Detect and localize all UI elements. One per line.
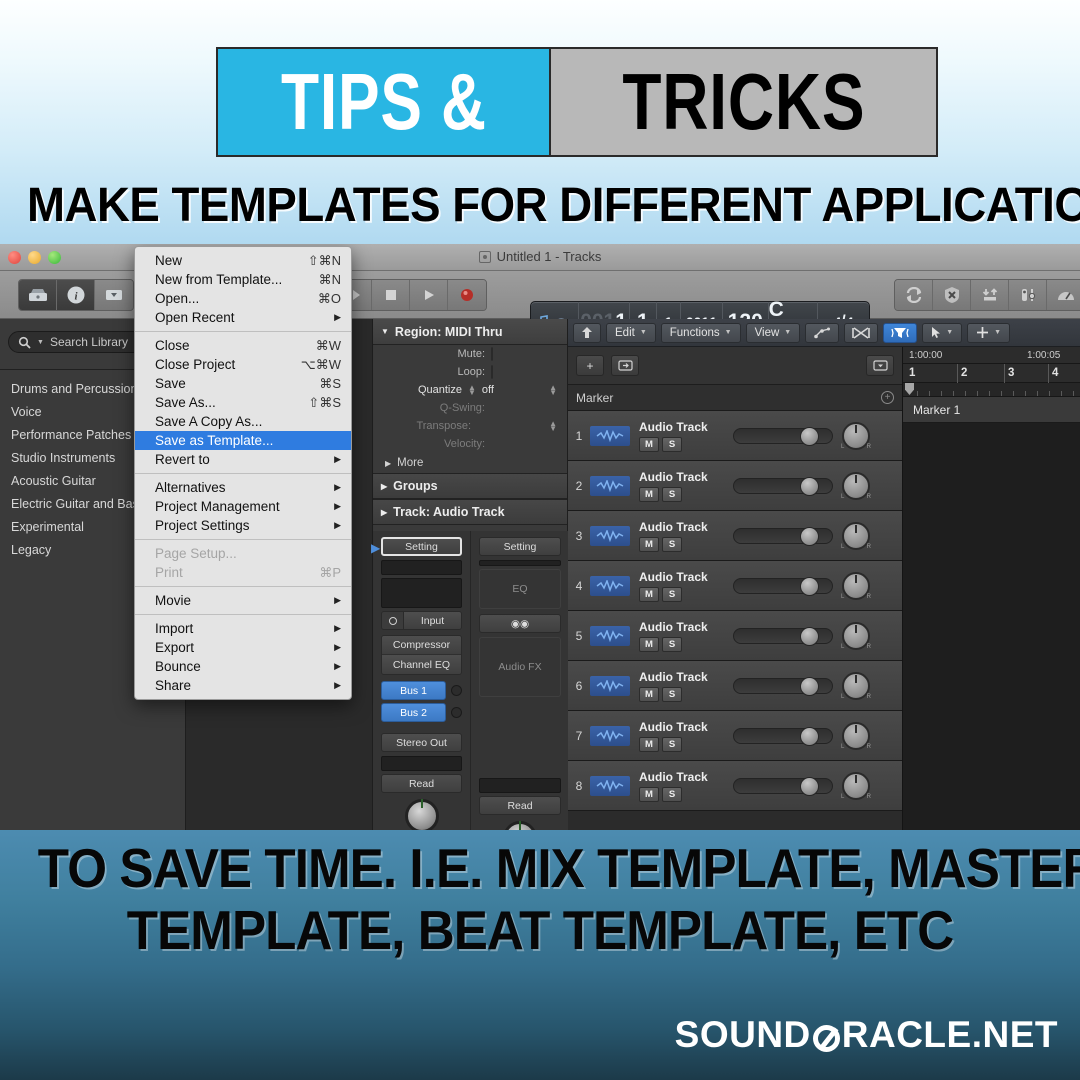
menu-item-label: New — [155, 253, 182, 268]
volume-slider[interactable] — [733, 678, 833, 694]
menu-separator — [135, 473, 351, 474]
table-row[interactable]: 5 Audio Track MS LR — [568, 611, 902, 661]
menu-item-alternatives[interactable]: Alternatives▶ — [135, 478, 351, 497]
strip-send-bus2-row[interactable]: Bus 2 — [381, 703, 462, 722]
loop-label: Loop: — [389, 366, 485, 378]
send-level-knob[interactable] — [451, 685, 462, 696]
strip-pan-knob[interactable] — [503, 821, 537, 830]
table-row[interactable]: 6 Audio Track MS LR — [568, 661, 902, 711]
menu-item-new-from-template[interactable]: New from Template...⌘N — [135, 270, 351, 289]
pan-knob[interactable]: LR — [842, 572, 870, 600]
menu-item-print: Print⌘P — [135, 563, 351, 582]
volume-slider[interactable] — [733, 478, 833, 494]
menu-item-shortcut: ⌥⌘W — [301, 357, 341, 373]
cpu-meter-icon[interactable] — [1047, 280, 1080, 310]
snap-icon[interactable] — [883, 323, 917, 343]
menu-item-shortcut: ⌘N — [319, 272, 341, 288]
menu-item-label: Import — [155, 621, 193, 636]
record-button[interactable] — [448, 280, 486, 310]
track-list: 1 Audio Track MS LR 2 Audio Track MS LR … — [568, 411, 902, 830]
strip-input-slot[interactable]: Input — [381, 611, 462, 630]
volume-slider-thumb[interactable] — [800, 527, 819, 546]
marker-track-label: Marker — [576, 391, 613, 405]
library-icon[interactable] — [19, 280, 57, 310]
strip-output-button[interactable]: Stereo Out — [381, 733, 462, 752]
library-item-label: Studio Instruments — [11, 451, 115, 465]
track-name: Audio Track — [639, 620, 708, 634]
strip-fx-compressor[interactable]: Compressor — [382, 636, 461, 655]
track-name: Audio Track — [639, 570, 708, 584]
tips-and-tricks-banner: TIPS & TRICKS — [216, 47, 938, 157]
menu-item-label: Export — [155, 640, 194, 655]
submenu-arrow-icon: ▶ — [334, 623, 341, 634]
volume-slider-thumb[interactable] — [800, 727, 819, 746]
table-row[interactable]: 4 Audio Track MS LR — [568, 561, 902, 611]
track-number: 4 — [568, 579, 590, 593]
bar-number: 1 — [909, 367, 915, 379]
channel-strips: ▶ Setting Input Compressor Channel EQ Bu… — [373, 531, 569, 830]
menu-item-project-settings[interactable]: Project Settings▶ — [135, 516, 351, 535]
pointer-tool-button[interactable]: ▼ — [922, 323, 962, 343]
count-in-icon[interactable] — [971, 280, 1009, 310]
library-item-label: Legacy — [11, 543, 51, 557]
tick-ruler — [903, 383, 1080, 397]
disclosure-down-icon: ▼ — [381, 327, 389, 336]
banner-tips-label: TIPS & — [281, 56, 487, 148]
menu-item-shortcut: ⌘W — [316, 338, 341, 354]
menu-item-save[interactable]: Save⌘S — [135, 374, 351, 393]
qswing-label: Q-Swing: — [389, 402, 485, 414]
timecode-ruler[interactable]: 1:00:00 1:00:05 — [903, 347, 1080, 364]
pan-knob[interactable]: LR — [842, 422, 870, 450]
caption-line-2: TEMPLATE, BEAT TEMPLATE, ETC — [38, 900, 1042, 962]
duplicate-track-button[interactable] — [611, 355, 639, 376]
velocity-label: Velocity: — [389, 438, 485, 450]
library-item-label: Drums and Percussion — [11, 382, 137, 396]
menu-item-label: Page Setup... — [155, 546, 237, 561]
table-row[interactable]: 3 Audio Track MS LR — [568, 511, 902, 561]
solo-button[interactable]: S — [662, 737, 682, 752]
transpose-stepper-icon[interactable]: ▲▼ — [549, 421, 557, 431]
track-number: 3 — [568, 529, 590, 543]
mute-button[interactable]: M — [639, 437, 659, 452]
strip-group-slot[interactable] — [381, 756, 462, 771]
logo-text-part1: SOUND — [675, 1014, 811, 1056]
menu-item-export[interactable]: Export▶ — [135, 638, 351, 657]
inspector-groups-label: Groups — [393, 479, 437, 493]
inspector-track-header[interactable]: ▶ Track: Audio Track — [373, 499, 567, 525]
window-title-label: Untitled 1 - Tracks — [497, 249, 602, 264]
menu-label: Edit — [615, 327, 635, 339]
menu-item-label: Open Recent — [155, 310, 235, 325]
bar-number: 2 — [961, 367, 967, 379]
library-item-label: Performance Patches — [11, 428, 131, 442]
waveform-icon — [590, 526, 630, 546]
import-arrow-icon[interactable] — [573, 323, 601, 343]
submenu-arrow-icon: ▶ — [334, 312, 341, 323]
track-name: Audio Track — [639, 720, 708, 734]
submenu-arrow-icon: ▶ — [334, 680, 341, 691]
inspector-more-toggle[interactable]: ▶ More — [373, 453, 567, 473]
menu-item-label: Project Settings — [155, 518, 250, 533]
volume-slider[interactable] — [733, 428, 833, 444]
volume-slider-thumb[interactable] — [800, 627, 819, 646]
strip-pan-knob[interactable] — [405, 799, 439, 830]
tracks-menu-view[interactable]: View▼ — [746, 323, 801, 343]
strip-group-slot[interactable] — [479, 778, 561, 793]
input-power-icon[interactable] — [382, 612, 404, 629]
tracks-menubar: Edit▼ Functions▼ View▼ ▼ ▼ — [568, 319, 1080, 347]
search-icon — [18, 336, 31, 349]
track-number: 5 — [568, 629, 590, 643]
pan-knob[interactable]: LR — [842, 472, 870, 500]
menu-item-label: Save as Template... — [155, 433, 273, 448]
strip-send-bus1[interactable]: Bus 1 — [381, 681, 446, 700]
menu-item-open-recent[interactable]: Open Recent▶ — [135, 308, 351, 327]
menu-item-save-as[interactable]: Save As...⇧⌘S — [135, 393, 351, 412]
strip-send-bus1-row[interactable]: Bus 1 — [381, 681, 462, 700]
smart-controls-icon[interactable] — [95, 280, 133, 310]
menu-item-label: Share — [155, 678, 191, 693]
pan-knob[interactable]: LR — [842, 672, 870, 700]
volume-slider[interactable] — [733, 628, 833, 644]
strip-eq-thumbnail[interactable] — [381, 560, 462, 575]
chevron-down-icon: ▼ — [946, 329, 953, 336]
table-row[interactable]: 8 Audio Track MS LR — [568, 761, 902, 811]
volume-slider-thumb[interactable] — [800, 677, 819, 696]
track-name: Audio Track — [639, 670, 708, 684]
menu-item-shortcut: ⌘O — [318, 291, 341, 307]
mute-button[interactable]: M — [639, 637, 659, 652]
submenu-arrow-icon: ▶ — [334, 520, 341, 531]
menu-item-shortcut: ⇧⌘S — [308, 395, 341, 411]
selection-arrow-icon: ▶ — [371, 541, 380, 555]
track-number: 8 — [568, 779, 590, 793]
add-track-button[interactable]: + — [576, 355, 604, 376]
menu-item-label: Project Management — [155, 499, 280, 514]
submenu-arrow-icon: ▶ — [334, 661, 341, 672]
strip-stereo-link-button[interactable]: ◉◉ — [479, 614, 561, 633]
quantize-label: Quantize — [373, 384, 462, 396]
menu-item-label: Close Project — [155, 357, 235, 372]
submenu-arrow-icon: ▶ — [334, 454, 341, 465]
arrange-canvas[interactable] — [903, 423, 1080, 830]
strip-fx-channel-eq[interactable]: Channel EQ — [382, 655, 461, 674]
menu-label: View — [755, 327, 780, 339]
menu-item-shortcut: ⇧⌘N — [308, 253, 341, 269]
solo-button[interactable]: S — [662, 787, 682, 802]
menu-item-shortcut: ⌘S — [319, 376, 341, 392]
pan-knob[interactable]: LR — [842, 772, 870, 800]
strip-send-bus2[interactable]: Bus 2 — [381, 703, 446, 722]
menu-item-bounce[interactable]: Bounce▶ — [135, 657, 351, 676]
track-name: Audio Track — [639, 420, 708, 434]
mute-button[interactable]: M — [639, 587, 659, 602]
menu-item-page-setup: Page Setup... — [135, 544, 351, 563]
menu-item-label: Save As... — [155, 395, 216, 410]
menu-item-save-a-copy-as[interactable]: Save A Copy As... — [135, 412, 351, 431]
mute-button[interactable]: M — [639, 687, 659, 702]
quantize-value: off — [482, 384, 543, 396]
transport-group — [333, 279, 487, 311]
banner-tricks-label: TRICKS — [622, 56, 865, 148]
bar-number: 3 — [1008, 367, 1014, 379]
menu-item-save-as-template[interactable]: Save as Template... — [135, 431, 351, 450]
menu-item-label: Movie — [155, 593, 191, 608]
send-level-knob[interactable] — [451, 707, 462, 718]
volume-slider-thumb[interactable] — [800, 427, 819, 446]
menu-item-import[interactable]: Import▶ — [135, 619, 351, 638]
chevron-down-icon: ▼ — [994, 329, 1001, 336]
region-inspector-title: Region: MIDI Thru — [395, 325, 503, 339]
bar-number: 4 — [1052, 367, 1058, 379]
menu-separator — [135, 614, 351, 615]
soundoracle-logo[interactable]: SOUNDRACLE.NET — [675, 1014, 1058, 1056]
quantize-value-stepper-icon[interactable]: ▲▼ — [549, 385, 557, 395]
project-disc-icon — [479, 251, 491, 263]
tracks-menu-functions[interactable]: Functions▼ — [661, 323, 741, 343]
strip-eq-box[interactable]: EQ — [479, 569, 561, 609]
stop-button[interactable] — [372, 280, 410, 310]
flex-icon[interactable] — [844, 323, 878, 343]
track-number: 1 — [568, 429, 590, 443]
chevron-down-icon: ▼ — [640, 329, 647, 336]
waveform-icon — [590, 476, 630, 496]
bottom-caption: TO SAVE TIME. I.E. MIX TEMPLATE, MASTERI… — [0, 838, 1080, 961]
chevron-down-icon: ▼ — [725, 329, 732, 336]
metronome-off-icon[interactable] — [933, 280, 971, 310]
inspector-row-loop[interactable]: Loop: — [373, 363, 567, 381]
waveform-icon — [590, 576, 630, 596]
submenu-arrow-icon: ▶ — [334, 501, 341, 512]
tracks-area: Edit▼ Functions▼ View▼ ▼ ▼ + — [568, 319, 1080, 830]
crosshair-tool-button[interactable]: ▼ — [967, 323, 1010, 343]
tuner-icon[interactable] — [1009, 280, 1047, 310]
waveform-icon — [590, 726, 630, 746]
global-marker-track[interactable]: Marker + — [568, 385, 902, 411]
mute-checkbox[interactable] — [491, 347, 493, 361]
menu-separator — [135, 539, 351, 540]
tracks-menu-edit[interactable]: Edit▼ — [606, 323, 656, 343]
volume-slider-thumb[interactable] — [800, 777, 819, 796]
logo-text-part2: RACLE.NET — [842, 1014, 1058, 1056]
bar-ruler[interactable]: 1 2 3 4 — [903, 364, 1080, 383]
chevron-right-icon: ▶ — [381, 482, 387, 491]
menu-item-label: Revert to — [155, 452, 210, 467]
toolbar-left-group: i — [18, 279, 134, 311]
timecode-start: 1:00:00 — [909, 350, 942, 361]
strip-setting-button[interactable]: Setting — [479, 537, 561, 556]
mute-label: Mute: — [389, 348, 485, 360]
volume-slider[interactable] — [733, 578, 833, 594]
region-inspector-header[interactable]: ▼ Region: MIDI Thru — [373, 319, 567, 345]
volume-slider[interactable] — [733, 728, 833, 744]
menu-separator — [135, 331, 351, 332]
waveform-icon — [590, 776, 630, 796]
library-item-label: Voice — [11, 405, 42, 419]
pan-knob[interactable]: LR — [842, 522, 870, 550]
submenu-arrow-icon: ▶ — [334, 595, 341, 606]
strip-audio-fx-box[interactable]: Audio FX — [479, 637, 561, 697]
add-marker-icon[interactable]: + — [881, 391, 894, 404]
chevron-down-icon: ▼ — [784, 329, 791, 336]
file-menu-dropdown[interactable]: New⇧⌘N New from Template...⌘N Open...⌘O … — [134, 246, 352, 700]
library-item-label: Electric Guitar and Bass — [11, 497, 145, 511]
submenu-arrow-icon: ▶ — [334, 642, 341, 653]
table-row[interactable]: 7 Audio Track MS LR — [568, 711, 902, 761]
solo-button[interactable]: S — [662, 587, 682, 602]
menu-item-movie[interactable]: Movie▶ — [135, 591, 351, 610]
menu-item-label: Open... — [155, 291, 199, 306]
strip-automation-mode[interactable]: Read — [381, 774, 462, 793]
library-item-label: Experimental — [11, 520, 84, 534]
playhead-icon[interactable] — [905, 383, 914, 395]
inspector-row-velocity[interactable]: Velocity: — [373, 435, 567, 453]
menu-item-share[interactable]: Share▶ — [135, 676, 351, 695]
pan-knob[interactable]: LR — [842, 622, 870, 650]
menu-item-project-management[interactable]: Project Management▶ — [135, 497, 351, 516]
menu-item-label: Save — [155, 376, 186, 391]
quantize-stepper-icon[interactable]: ▲▼ — [468, 385, 476, 395]
solo-button[interactable]: S — [662, 537, 682, 552]
inspector-row-transpose[interactable]: Transpose: ▲▼ — [373, 417, 567, 435]
marker-1-row[interactable]: Marker 1 — [903, 397, 1080, 423]
chevron-right-icon: ▶ — [381, 508, 387, 517]
marker-1-label: Marker 1 — [913, 403, 960, 417]
menu-item-label: Save A Copy As... — [155, 414, 262, 429]
menu-item-revert-to[interactable]: Revert to▶ — [135, 450, 351, 469]
channel-strip-output[interactable]: Setting EQ ◉◉ Audio FX Read — [471, 531, 569, 830]
solo-button[interactable]: S — [662, 687, 682, 702]
chevron-right-icon: ▶ — [385, 459, 391, 468]
track-number: 2 — [568, 479, 590, 493]
channel-strip-selected[interactable]: ▶ Setting Input Compressor Channel EQ Bu… — [373, 531, 471, 830]
logo-o-icon — [813, 1025, 840, 1052]
volume-slider-thumb[interactable] — [800, 477, 819, 496]
cycle-icon[interactable] — [895, 280, 933, 310]
banner-tips-box: TIPS & — [218, 49, 551, 155]
strip-setting-button[interactable]: Setting — [381, 537, 462, 556]
mute-button[interactable]: M — [639, 487, 659, 502]
solo-button[interactable]: S — [662, 487, 682, 502]
banner-tricks-box: TRICKS — [551, 49, 936, 155]
mute-button[interactable]: M — [639, 737, 659, 752]
info-icon[interactable]: i — [57, 280, 95, 310]
track-name: Audio Track — [639, 520, 708, 534]
strip-automation-mode[interactable]: Read — [479, 796, 561, 815]
mute-button[interactable]: M — [639, 537, 659, 552]
table-row[interactable]: 1 Audio Track MS LR — [568, 411, 902, 461]
mute-button[interactable]: M — [639, 787, 659, 802]
waveform-icon — [590, 626, 630, 646]
timecode-mark: 1:00:05 — [1027, 350, 1060, 361]
track-header-toolbar: + — [568, 347, 902, 385]
inspector-row-qswing[interactable]: Q-Swing: — [373, 399, 567, 417]
toolbar-right-group — [894, 279, 1080, 311]
menu-item-label: Bounce — [155, 659, 201, 674]
waveform-icon — [590, 426, 630, 446]
arrange-area: 1:00:00 1:00:05 1 2 3 4 Marker 1 — [902, 347, 1080, 830]
menu-separator — [135, 586, 351, 587]
menu-item-close-project[interactable]: Close Project⌥⌘W — [135, 355, 351, 374]
solo-button[interactable]: S — [662, 437, 682, 452]
inspector-track-label: Track: Audio Track — [393, 505, 504, 519]
inspector-row-quantize[interactable]: Quantize ▲▼ off ▲▼ — [373, 381, 567, 399]
strip-eq-display[interactable] — [381, 578, 462, 608]
volume-slider[interactable] — [733, 528, 833, 544]
track-name: Audio Track — [639, 470, 708, 484]
inspector-groups-header[interactable]: ▶ Groups — [373, 473, 567, 499]
volume-slider-thumb[interactable] — [800, 577, 819, 596]
submenu-arrow-icon: ▶ — [334, 482, 341, 493]
strip-divider — [479, 560, 561, 566]
menu-item-shortcut: ⌘P — [319, 565, 341, 581]
solo-button[interactable]: S — [662, 637, 682, 652]
play-button[interactable] — [410, 280, 448, 310]
menu-item-new[interactable]: New⇧⌘N — [135, 251, 351, 270]
track-number: 7 — [568, 729, 590, 743]
logic-pro-window: Untitled 1 - Tracks i — [0, 244, 1080, 830]
pan-knob[interactable]: LR — [842, 722, 870, 750]
track-number: 6 — [568, 679, 590, 693]
headline-text: MAKE TEMPLATES FOR DIFFERENT APPLICATION… — [27, 178, 1053, 233]
volume-slider[interactable] — [733, 778, 833, 794]
menu-item-label: New from Template... — [155, 272, 282, 287]
inspector-panel: ▼ Region: MIDI Thru Mute: Loop: Quantize… — [372, 319, 568, 830]
search-library-placeholder: Search Library — [50, 335, 128, 349]
waveform-icon — [590, 676, 630, 696]
inspector-row-mute[interactable]: Mute: — [373, 345, 567, 363]
caption-line-1: TO SAVE TIME. I.E. MIX TEMPLATE, MASTERI… — [38, 838, 1042, 900]
library-item-label: Acoustic Guitar — [11, 474, 96, 488]
loop-checkbox[interactable] — [491, 365, 493, 379]
strip-fx-slots[interactable]: Compressor Channel EQ — [381, 635, 462, 675]
menu-item-label: Close — [155, 338, 190, 353]
automation-icon[interactable] — [805, 323, 839, 343]
track-name: Audio Track — [639, 770, 708, 784]
menu-item-label: Alternatives — [155, 480, 226, 495]
menu-label: Functions — [670, 327, 720, 339]
transpose-label: Transpose: — [375, 420, 471, 432]
menu-item-open[interactable]: Open...⌘O — [135, 289, 351, 308]
table-row[interactable]: 2 Audio Track MS LR — [568, 461, 902, 511]
inspector-more-label: More — [397, 457, 423, 469]
menu-item-close[interactable]: Close⌘W — [135, 336, 351, 355]
menu-item-label: Print — [155, 565, 183, 580]
strip-input-label: Input — [404, 612, 461, 629]
track-config-button[interactable] — [866, 355, 894, 376]
